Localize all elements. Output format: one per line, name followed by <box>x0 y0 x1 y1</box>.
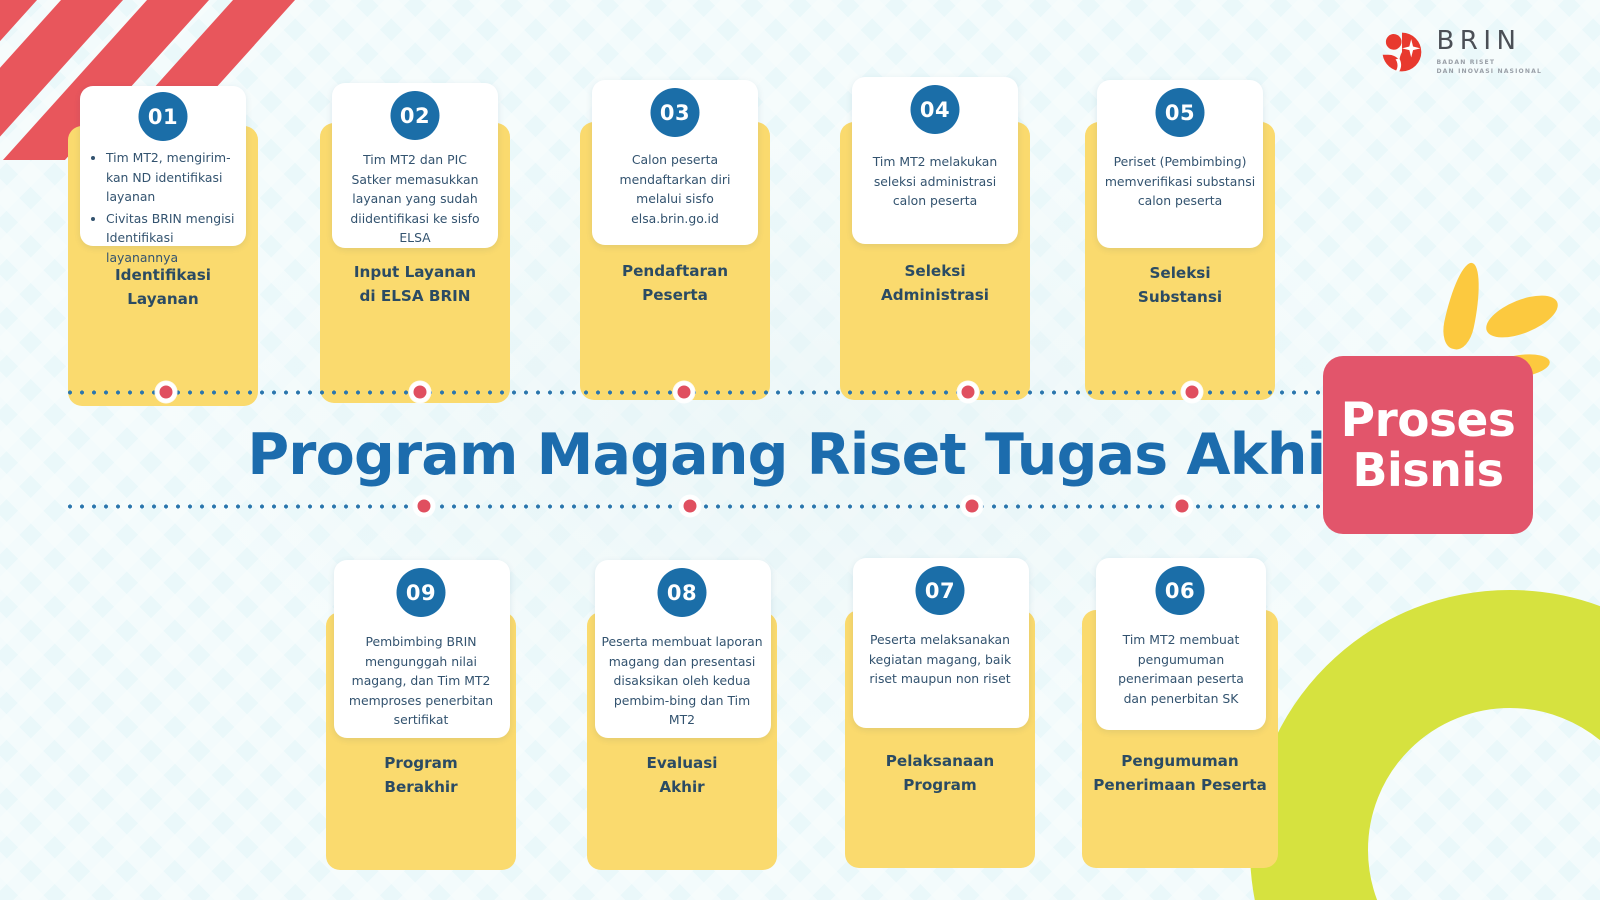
step-number-badge: 02 <box>391 91 440 140</box>
step-body: Peserta membuat laporan magang dan prese… <box>591 632 773 730</box>
step-title-line2: Berakhir <box>326 776 516 800</box>
step-title-line2: di ELSA BRIN <box>320 285 510 309</box>
step-title: Evaluasi Akhir <box>587 752 777 799</box>
step-title-line1: Pendaftaran <box>580 260 770 284</box>
badge-line1: Proses <box>1341 396 1516 446</box>
step-number-badge: 08 <box>658 568 707 617</box>
spark-1-icon <box>1439 260 1487 352</box>
step-title-line1: Program <box>326 752 516 776</box>
step-title-line1: Seleksi <box>840 260 1030 284</box>
brin-tagline: BADAN RISET DAN INOVASI NASIONAL <box>1436 59 1542 77</box>
timeline-node-8 <box>680 496 701 517</box>
step-number-badge: 09 <box>397 568 446 617</box>
spark-2-icon <box>1481 287 1564 346</box>
step-number-badge: 04 <box>911 85 960 134</box>
step-number-badge: 03 <box>651 88 700 137</box>
step-title-line2: Substansi <box>1085 286 1275 310</box>
step-title-line2: Akhir <box>587 776 777 800</box>
step-number-badge: 06 <box>1156 566 1205 615</box>
step-title-line2: Peserta <box>580 284 770 308</box>
step-title: Seleksi Substansi <box>1085 262 1275 309</box>
step-title-line2: Layanan <box>68 288 258 312</box>
step-title-line1: Identifikasi <box>68 264 258 288</box>
proses-bisnis-badge: Proses Bisnis <box>1323 356 1533 534</box>
step-title-line1: Seleksi <box>1085 262 1275 286</box>
step-body: Tim MT2 melakukan seleksi administrasi c… <box>852 152 1018 211</box>
timeline-node-3 <box>674 382 695 403</box>
timeline-node-1 <box>156 382 177 403</box>
step-title-line2: Penerimaan Peserta <box>1082 774 1278 798</box>
step-body: Tim MT2 membuat pengumuman penerimaan pe… <box>1096 630 1266 708</box>
step-body: Tim MT2 dan PIC Satker memasukkan layana… <box>332 150 498 248</box>
infographic-canvas: BRIN BADAN RISET DAN INOVASI NASIONAL 01… <box>0 0 1600 900</box>
stripe-1 <box>0 0 91 100</box>
step-title-line1: Pengumuman <box>1082 750 1278 774</box>
step-number-badge: 01 <box>139 92 188 141</box>
step-title-line1: Evaluasi <box>587 752 777 776</box>
step-body: Pembimbing BRIN mengunggah nilai magang,… <box>328 632 514 730</box>
timeline-node-2 <box>410 382 431 403</box>
step-number-badge: 05 <box>1156 88 1205 137</box>
step-number-badge: 07 <box>916 566 965 615</box>
step-body-item: Civitas BRIN mengisi Identifikasi layana… <box>106 209 236 268</box>
step-body: Calon peserta mendaftarkan diri melalui … <box>592 150 758 228</box>
step-title-line2: Program <box>845 774 1035 798</box>
timeline-node-5 <box>1182 382 1203 403</box>
step-title: Pelaksanaan Program <box>845 750 1035 797</box>
stripe-4 <box>143 0 349 100</box>
step-title: Program Berakhir <box>326 752 516 799</box>
decorative-lime-ring <box>1250 590 1600 900</box>
brin-tagline-line1: BADAN RISET <box>1436 59 1542 68</box>
brin-wordmark: BRIN BADAN RISET DAN INOVASI NASIONAL <box>1436 28 1542 77</box>
brin-logo-mark-icon <box>1379 29 1425 75</box>
step-title-line1: Input Layanan <box>320 261 510 285</box>
step-title: Pendaftaran Peserta <box>580 260 770 307</box>
brin-name: BRIN <box>1436 28 1542 54</box>
brin-logo: BRIN BADAN RISET DAN INOVASI NASIONAL <box>1379 28 1542 77</box>
step-title-line2: Administrasi <box>840 284 1030 308</box>
step-body: Tim MT2, mengirim-kan ND identifikasi la… <box>80 148 246 270</box>
step-body: Periset (Pembimbing) memverifikasi subst… <box>1093 152 1267 211</box>
step-title: Pengumuman Penerimaan Peserta <box>1082 750 1278 797</box>
step-title: Input Layanan di ELSA BRIN <box>320 261 510 308</box>
step-title-line1: Pelaksanaan <box>845 750 1035 774</box>
step-title: Seleksi Administrasi <box>840 260 1030 307</box>
badge-line2: Bisnis <box>1352 446 1503 495</box>
brin-tagline-line2: DAN INOVASI NASIONAL <box>1436 68 1542 77</box>
timeline-node-9 <box>414 496 435 517</box>
timeline-node-6 <box>1172 496 1193 517</box>
step-body: Peserta melaksanakan kegiatan magang, ba… <box>847 630 1033 689</box>
timeline-node-4 <box>958 382 979 403</box>
step-body-item: Tim MT2, mengirim-kan ND identifikasi la… <box>106 148 236 207</box>
timeline-node-7 <box>962 496 983 517</box>
step-title: Identifikasi Layanan <box>68 264 258 311</box>
